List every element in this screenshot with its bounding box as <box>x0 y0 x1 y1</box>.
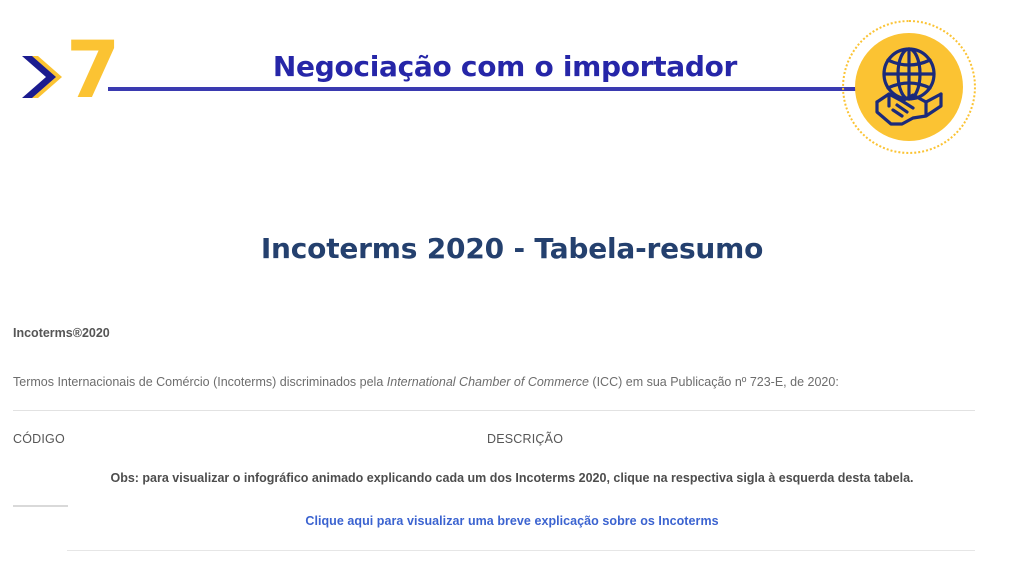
table-row-stub-divider <box>13 505 68 507</box>
page-banner: 7 Negociação com o importador <box>0 0 1024 172</box>
globe-handshake-icon <box>869 44 949 130</box>
table-header-descricao: DESCRIÇÃO <box>487 430 563 448</box>
table-top-divider <box>13 410 975 411</box>
table-header-codigo: CÓDIGO <box>13 430 65 448</box>
intro-text-italic: International Chamber of Commerce <box>387 375 589 389</box>
banner-divider-rule <box>108 87 898 91</box>
chevron-right-icon <box>14 52 64 102</box>
intro-text-before: Termos Internacionais de Comércio (Incot… <box>13 375 387 389</box>
document-body: Incoterms 2020 - Tabela-resumo Incoterms… <box>0 172 1024 391</box>
intro-text-after: (ICC) em sua Publicação nº 723-E, de 202… <box>589 375 839 389</box>
table-header-row: CÓDIGO DESCRIÇÃO <box>0 430 1024 448</box>
banner-title: Negociação com o importador <box>240 50 770 84</box>
step-number: 7 <box>66 32 118 110</box>
table-bottom-divider <box>67 550 975 551</box>
document-subtitle: Incoterms®2020 <box>13 266 1011 342</box>
table-note: Obs: para visualizar o infográfico anima… <box>0 469 1024 487</box>
table-link-row: Clique aqui para visualizar uma breve ex… <box>0 512 1024 530</box>
slide-page: 7 Negociação com o importador <box>0 0 1024 576</box>
intro-block: Incoterms®2020 Termos Internacionais de … <box>0 266 1024 391</box>
incoterms-explanation-link[interactable]: Clique aqui para visualizar uma breve ex… <box>305 514 718 528</box>
page-title: Incoterms 2020 - Tabela-resumo <box>0 172 1024 266</box>
intro-paragraph: Termos Internacionais de Comércio (Incot… <box>13 342 1011 391</box>
banner-badge <box>842 20 976 154</box>
